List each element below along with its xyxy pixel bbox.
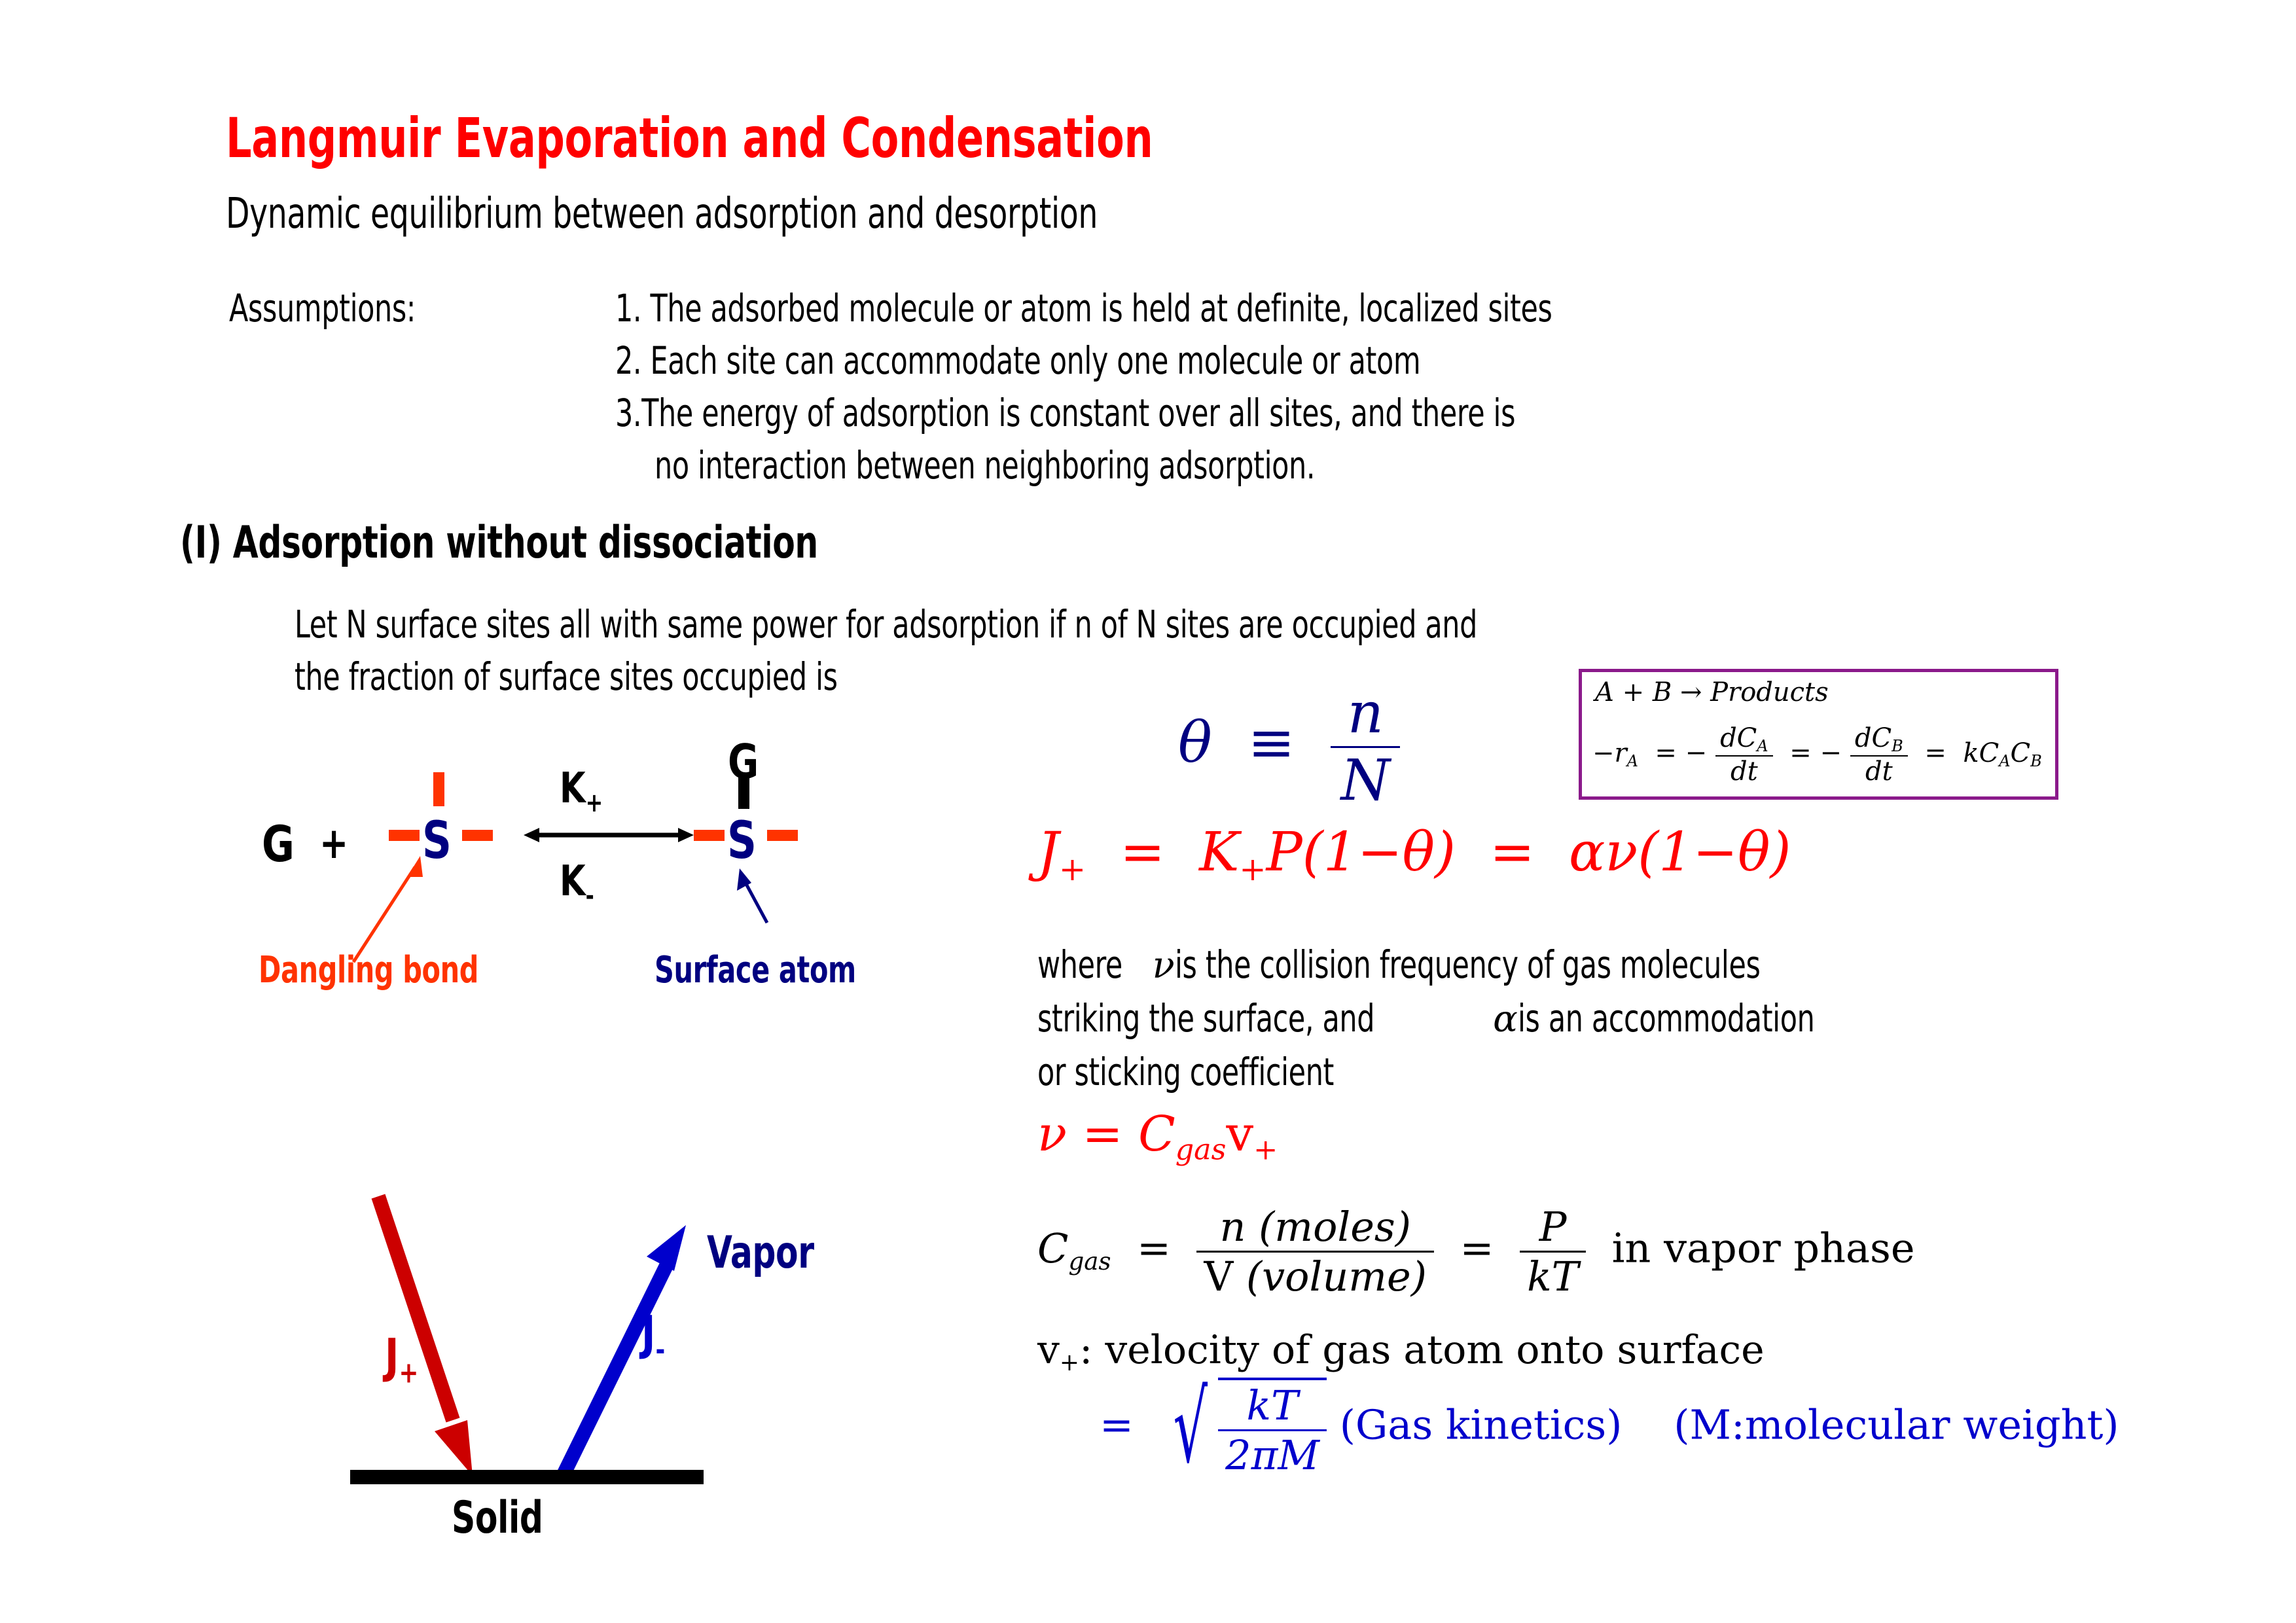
dangling-bond-vertical-icon bbox=[433, 772, 444, 806]
surface-atom-annotation: Surface atom bbox=[655, 949, 856, 991]
rate-law-equation: −rA = − dCA dt = − dCB dt = kCACB bbox=[1592, 723, 2042, 787]
c-gas-equation: Cgas = n (moles) V (volume) = P kT in va… bbox=[1037, 1203, 1915, 1300]
j-plus-label: J+ bbox=[385, 1329, 418, 1389]
equilibrium-arrow-icon bbox=[524, 823, 694, 849]
assumption-item-2: 2. Each site can accommodate only one mo… bbox=[615, 338, 1420, 383]
k-forward-label: K+ bbox=[560, 764, 603, 818]
v-plus-definition: v+: velocity of gas atom onto surface bbox=[1037, 1327, 1765, 1376]
adsorption-reaction-diagram: G + S K+ K- G S Dangling bond Surface at… bbox=[262, 753, 982, 1027]
dangling-bond-left-icon bbox=[389, 830, 420, 841]
reaction-equation: A + B → Products bbox=[1595, 677, 1829, 707]
page-subtitle: Dynamic equilibrium between adsorption a… bbox=[226, 190, 1098, 238]
surface-bond-right-icon bbox=[767, 830, 798, 841]
where-line-3: or sticking coefficient bbox=[1037, 1050, 1334, 1094]
assumptions-label: Assumptions: bbox=[229, 286, 416, 330]
gas-label-left: G bbox=[262, 815, 295, 873]
where-line-2: striking the surface, and α is an accomm… bbox=[1037, 996, 1919, 1041]
section-heading: (I) Adsorption without dissociation bbox=[180, 517, 818, 569]
body-line-1: Let N surface sites all with same power … bbox=[295, 602, 1477, 647]
velocity-sqrt-equation: = √ kT 2πM (Gas kinetics) (M:molecular w… bbox=[1100, 1378, 2119, 1479]
j-minus-label: J- bbox=[641, 1306, 665, 1366]
solid-label: Solid bbox=[452, 1492, 543, 1544]
molecular-weight-note: (M:molecular weight) bbox=[1674, 1401, 2119, 1449]
j-plus-equation: J+ = K+P(1−θ) = αν(1−θ) bbox=[1037, 821, 1791, 888]
flux-diagram: J+ J- Vapor Solid bbox=[301, 1145, 890, 1590]
k-reverse-label: K- bbox=[560, 857, 594, 911]
surface-bond-left-icon bbox=[694, 830, 725, 841]
body-line-2: the fraction of surface sites occupied i… bbox=[295, 654, 838, 699]
vapor-label: Vapor bbox=[707, 1227, 814, 1279]
assumption-item-3-cont: no interaction between neighboring adsor… bbox=[655, 443, 1315, 488]
where-line-1: where ν is the collision frequency of ga… bbox=[1037, 942, 1965, 987]
dangling-bond-annotation: Dangling bond bbox=[259, 949, 478, 991]
gas-kinetics-note: (Gas kinetics) bbox=[1340, 1401, 1623, 1449]
surface-atom-pointer-icon bbox=[720, 854, 798, 946]
nu-definition-equation: ν = Cgasv+ bbox=[1037, 1106, 1278, 1166]
adsorption-bond-icon bbox=[738, 777, 749, 809]
assumption-item-3: 3.The energy of adsorption is constant o… bbox=[615, 391, 1515, 435]
page-title: Langmuir Evaporation and Condensation bbox=[226, 106, 1153, 170]
theta-definition-equation: θ ≡ n N bbox=[1178, 681, 1400, 813]
assumption-item-1: 1. The adsorbed molecule or atom is held… bbox=[615, 286, 1552, 330]
dangling-bond-right-icon bbox=[462, 830, 493, 841]
rate-law-box: A + B → Products −rA = − dCA dt = − dCB … bbox=[1579, 669, 2058, 800]
